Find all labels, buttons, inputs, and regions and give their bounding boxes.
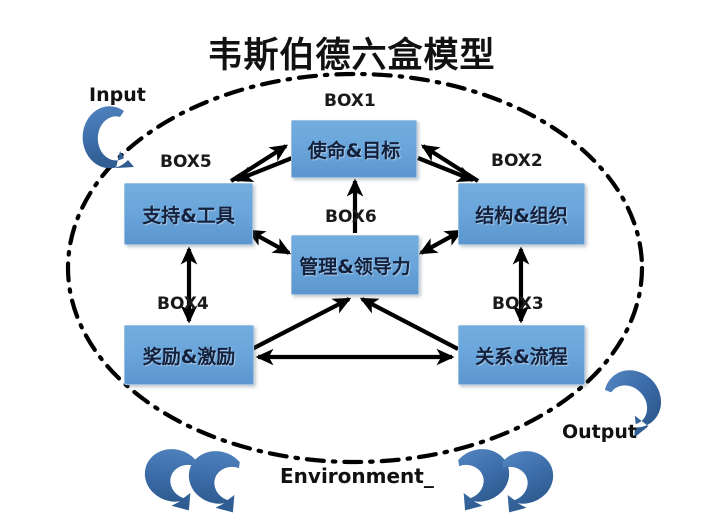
box6-label: 管理&领导力: [299, 252, 411, 279]
diagram-canvas: 韦斯伯德六盒模型: [0, 0, 703, 526]
box4-label: 奖励&激励: [143, 342, 236, 369]
arrow-box6-box2: [421, 231, 461, 253]
input-label: Input: [89, 84, 146, 106]
box4-tag: BOX4: [157, 294, 209, 314]
box-mission-goals[interactable]: 使命&目标: [291, 120, 417, 178]
box6-tag: BOX6: [325, 207, 377, 227]
box3-tag: BOX3: [492, 294, 544, 314]
box5-tag: BOX5: [160, 152, 212, 172]
arrow-box6-box5: [249, 231, 289, 253]
box-rewards-incentives[interactable]: 奖励&激励: [124, 325, 254, 385]
arrow-box3-to-box6: [362, 299, 458, 349]
box3-label: 关系&流程: [475, 342, 568, 369]
arrow-box4-to-box6: [252, 299, 349, 349]
environment-label: Environment_: [280, 464, 434, 488]
box-support-tools[interactable]: 支持&工具: [124, 183, 253, 245]
box5-label: 支持&工具: [142, 201, 235, 228]
box-relationships-processes[interactable]: 关系&流程: [458, 325, 585, 385]
box2-label: 结构&组织: [475, 201, 568, 228]
box1-tag: BOX1: [324, 91, 376, 111]
box2-tag: BOX2: [491, 151, 543, 171]
box1-label: 使命&目标: [308, 136, 401, 163]
box-management-leadership[interactable]: 管理&领导力: [291, 235, 419, 295]
box-structure-organization[interactable]: 结构&组织: [458, 183, 585, 245]
input-curved-arrow-icon: [83, 106, 134, 168]
output-label: Output: [562, 421, 637, 443]
